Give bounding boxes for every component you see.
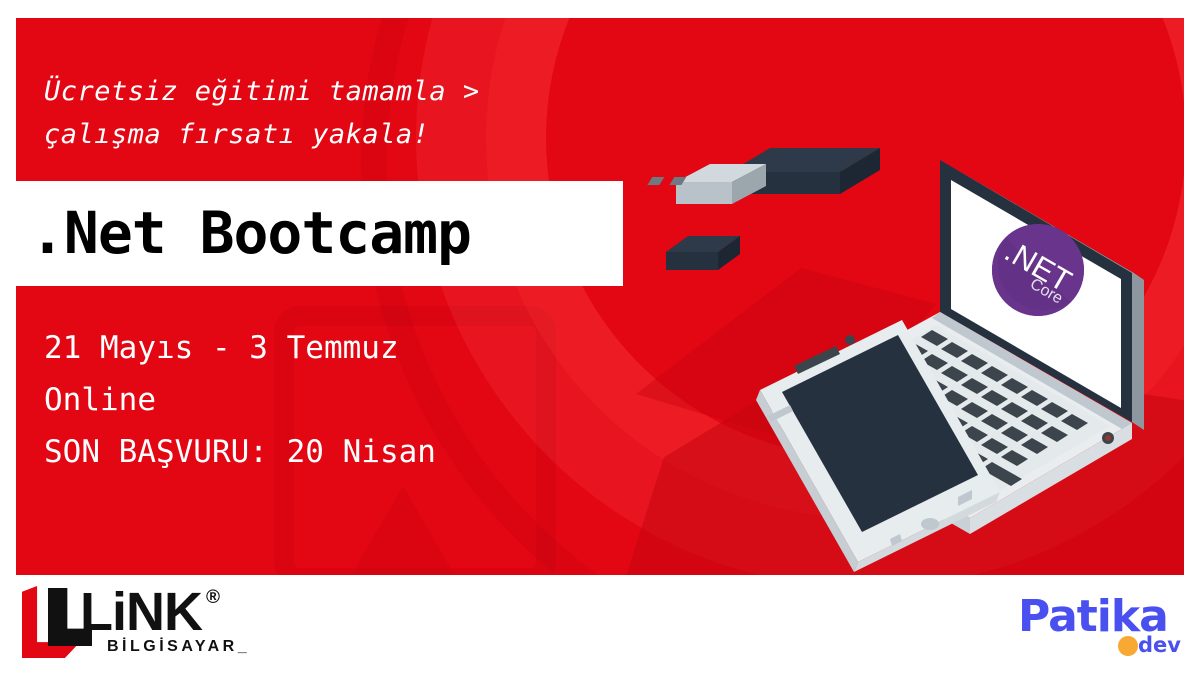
event-details-text: 21 Mayıs - 3 Temmuz Online SON BAŞVURU: … (44, 322, 664, 478)
patika-dev-logo: Patika dev (1018, 594, 1186, 660)
tagline-text: Ücretsiz eğitimi tamamla > çalışma fırsa… (44, 70, 604, 156)
link-wordmark: LiNK (80, 584, 202, 640)
patika-dot-icon (1118, 636, 1138, 656)
watermark-triangle (278, 486, 528, 575)
usb-flash-drive-illustration (647, 148, 880, 204)
link-bilgisayar-logo: LiNK ® BİLGİSAYAR_ (22, 586, 252, 662)
dotnet-core-logo: .NET Core (992, 224, 1084, 316)
registered-trademark-icon: ® (206, 587, 220, 609)
banner-canvas: Ücretsiz eğitimi tamamla > çalışma fırsa… (0, 0, 1200, 675)
device-illustration: .NET Core (640, 120, 1200, 580)
link-subtitle: BİLGİSAYAR_ (107, 638, 250, 656)
usb-cap-illustration (666, 236, 740, 270)
page-title: .Net Bootcamp (30, 196, 471, 270)
patika-dev-suffix: dev (1138, 634, 1181, 656)
